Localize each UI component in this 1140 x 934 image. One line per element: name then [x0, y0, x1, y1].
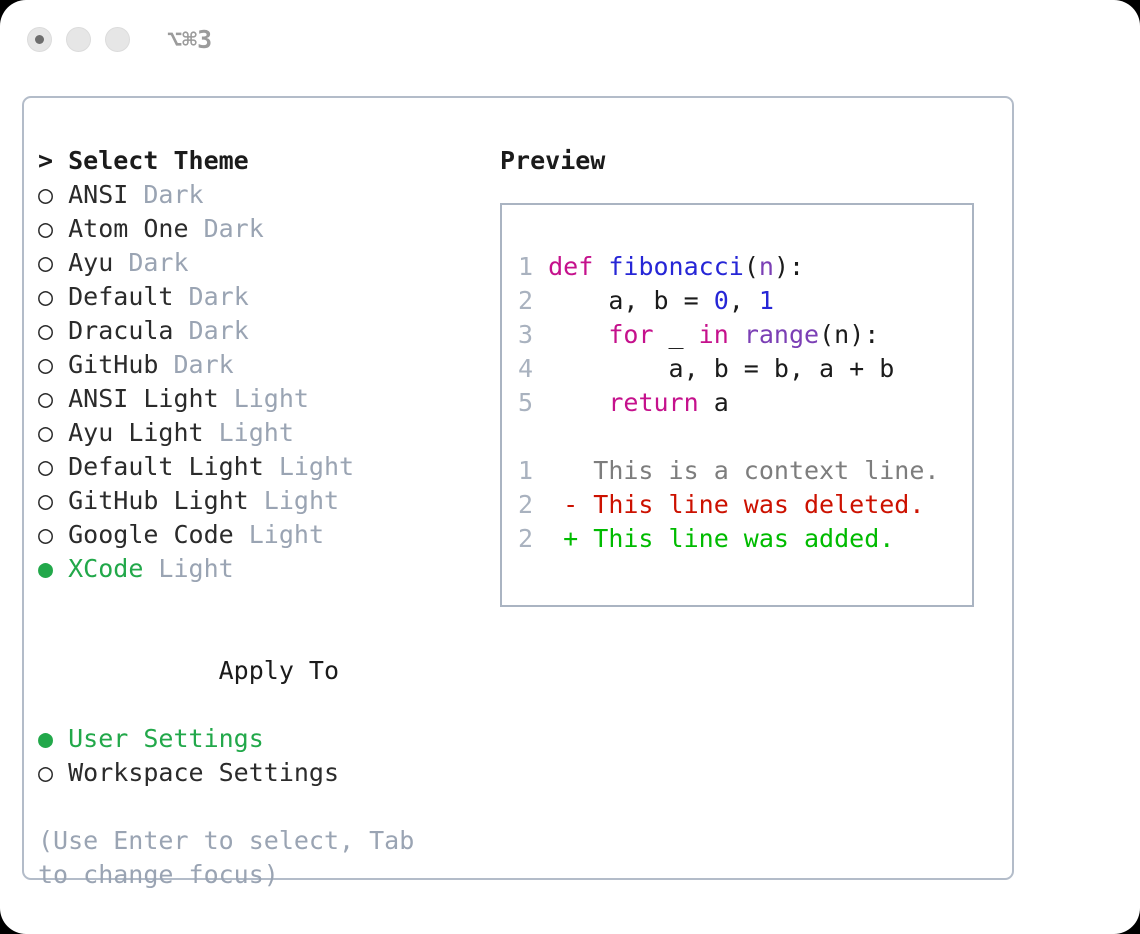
- theme-option-kind: Dark: [189, 214, 264, 243]
- code-token-kw: return: [608, 388, 698, 417]
- code-line: 1 def fibonacci(n):: [518, 250, 972, 284]
- code-token-var: a, b =: [548, 286, 714, 315]
- apply-to-option-label: User Settings: [53, 724, 264, 753]
- code-line-gap: [533, 252, 548, 281]
- traffic-light-dot-icon: [35, 35, 44, 44]
- theme-option-ansi[interactable]: ○ ANSI Dark: [38, 178, 498, 212]
- radio-unselected-icon: ○: [38, 282, 53, 311]
- theme-option-kind: Light: [249, 486, 339, 515]
- traffic-light-second[interactable]: [66, 27, 91, 52]
- theme-option-google-code[interactable]: ○ Google Code Light: [38, 518, 498, 552]
- diff-line: 2 - This line was deleted.: [518, 488, 972, 522]
- theme-option-ayu-light[interactable]: ○ Ayu Light Light: [38, 416, 498, 450]
- theme-option-label: XCode: [53, 554, 143, 583]
- theme-option-kind: Dark: [113, 248, 188, 277]
- radio-unselected-icon: ○: [38, 316, 53, 345]
- code-token-kw: in: [699, 320, 729, 349]
- diff-line-gap: [533, 456, 563, 485]
- diff-line: 1 This is a context line.: [518, 454, 972, 488]
- code-sample: 1 def fibonacci(n):2 a, b = 0, 13 for _ …: [518, 250, 972, 420]
- theme-option-label: Default Light: [53, 452, 264, 481]
- code-token-param: n: [759, 252, 774, 281]
- code-line-number: 5: [518, 388, 533, 417]
- apply-to-list: ● User Settings○ Workspace Settings: [38, 722, 498, 790]
- diff-line-number: 2: [518, 524, 533, 553]
- radio-unselected-icon: ○: [38, 452, 53, 481]
- code-token-num: 0: [714, 286, 729, 315]
- app-window: ⌥⌘3 > Select Theme ○ ANSI Dark○ Atom One…: [0, 0, 1140, 934]
- radio-selected-icon: ●: [38, 724, 53, 753]
- code-token-var: ,: [729, 286, 759, 315]
- apply-to-header: Apply To: [38, 620, 498, 722]
- theme-option-kind: Light: [204, 418, 294, 447]
- radio-unselected-icon: ○: [38, 418, 53, 447]
- main-panel: > Select Theme ○ ANSI Dark○ Atom One Dar…: [22, 96, 1014, 880]
- theme-option-label: ANSI: [53, 180, 128, 209]
- theme-option-label: Ayu: [53, 248, 113, 277]
- radio-unselected-icon: ○: [38, 758, 53, 787]
- radio-unselected-icon: ○: [38, 384, 53, 413]
- keyboard-hint: (Use Enter to select, Tab to change focu…: [38, 824, 446, 892]
- window-controls: [27, 27, 130, 52]
- theme-option-label: Default: [53, 282, 173, 311]
- keyboard-shortcut-label: ⌥⌘3: [167, 27, 212, 52]
- theme-option-ansi-light[interactable]: ○ ANSI Light Light: [38, 382, 498, 416]
- panel-columns: > Select Theme ○ ANSI Dark○ Atom One Dar…: [24, 98, 1012, 878]
- code-line: 2 a, b = 0, 1: [518, 284, 972, 318]
- diff-line-gap: [533, 524, 563, 553]
- radio-unselected-icon: ○: [38, 486, 53, 515]
- code-line: 5 return a: [518, 386, 972, 420]
- diff-marker-del: -: [563, 490, 593, 519]
- code-token-var: _: [654, 320, 699, 349]
- code-line-gap: [533, 388, 548, 417]
- preview-box: 1 def fibonacci(n):2 a, b = 0, 13 for _ …: [500, 203, 974, 607]
- theme-option-label: GitHub: [53, 350, 158, 379]
- theme-option-dracula[interactable]: ○ Dracula Dark: [38, 314, 498, 348]
- theme-option-label: Google Code: [53, 520, 234, 549]
- code-token-builtin: range: [744, 320, 819, 349]
- theme-option-label: Dracula: [53, 316, 173, 345]
- theme-option-kind: Light: [219, 384, 309, 413]
- code-token-fn: fibonacci: [608, 252, 743, 281]
- code-token-var: a: [699, 388, 729, 417]
- code-line-gap: [533, 354, 548, 383]
- theme-option-kind: Dark: [128, 180, 203, 209]
- code-line-number: 3: [518, 320, 533, 349]
- preview-column: Preview 1 def fibonacci(n):2 a, b = 0, 1…: [500, 144, 1000, 607]
- diff-line-gap: [533, 490, 563, 519]
- theme-option-kind: Light: [234, 520, 324, 549]
- apply-to-label: [189, 656, 219, 685]
- code-line: 4 a, b = b, a + b: [518, 352, 972, 386]
- theme-option-github-light[interactable]: ○ GitHub Light Light: [38, 484, 498, 518]
- diff-marker-ctx: [563, 456, 593, 485]
- code-line-gap: [533, 286, 548, 315]
- code-token-var: [548, 320, 608, 349]
- theme-option-label: Ayu Light: [53, 418, 204, 447]
- radio-unselected-icon: ○: [38, 350, 53, 379]
- apply-to-option-user-settings[interactable]: ● User Settings: [38, 722, 498, 756]
- theme-option-github[interactable]: ○ GitHub Dark: [38, 348, 498, 382]
- code-token-kw: for: [608, 320, 653, 349]
- traffic-light-third[interactable]: [105, 27, 130, 52]
- code-diff-separator: [518, 420, 972, 454]
- diff-marker-add: +: [563, 524, 593, 553]
- preview-title: Preview: [500, 144, 1000, 178]
- theme-picker-column: > Select Theme ○ ANSI Dark○ Atom One Dar…: [38, 144, 498, 892]
- title-bar: ⌥⌘3: [0, 0, 1140, 78]
- code-line-number: 2: [518, 286, 533, 315]
- theme-option-kind: Dark: [173, 282, 248, 311]
- apply-to-option-workspace-settings[interactable]: ○ Workspace Settings: [38, 756, 498, 790]
- apply-to-option-label: Workspace Settings: [53, 758, 339, 787]
- theme-option-kind: Dark: [173, 316, 248, 345]
- code-token-punct: ):: [774, 252, 804, 281]
- radio-unselected-icon: ○: [38, 180, 53, 209]
- theme-option-ayu[interactable]: ○ Ayu Dark: [38, 246, 498, 280]
- code-line-number: 1: [518, 252, 533, 281]
- code-token-kw: def: [548, 252, 608, 281]
- radio-unselected-icon: ○: [38, 214, 53, 243]
- theme-option-label: ANSI Light: [53, 384, 219, 413]
- code-line-number: 4: [518, 354, 533, 383]
- diff-line-text: This line was added.: [593, 524, 894, 553]
- code-line: 3 for _ in range(n):: [518, 318, 972, 352]
- theme-option-kind: Light: [264, 452, 354, 481]
- apply-to-title: Apply To: [219, 656, 339, 685]
- code-token-num: 1: [759, 286, 774, 315]
- code-line-gap: [533, 320, 548, 349]
- diff-line-number: 1: [518, 456, 533, 485]
- theme-option-default-light[interactable]: ○ Default Light Light: [38, 450, 498, 484]
- radio-unselected-icon: ○: [38, 520, 53, 549]
- select-theme-header: > Select Theme: [38, 144, 498, 178]
- diff-line: 2 + This line was added.: [518, 522, 972, 556]
- code-token-var: a, b = b, a + b: [548, 354, 894, 383]
- radio-selected-icon: ●: [38, 554, 53, 583]
- theme-option-default[interactable]: ○ Default Dark: [38, 280, 498, 314]
- radio-unselected-icon: ○: [38, 248, 53, 277]
- theme-option-atom-one[interactable]: ○ Atom One Dark: [38, 212, 498, 246]
- code-token-var: [729, 320, 744, 349]
- code-token-var: [548, 388, 608, 417]
- theme-option-kind: Dark: [158, 350, 233, 379]
- theme-option-kind: Light: [143, 554, 233, 583]
- traffic-light-active[interactable]: [27, 27, 52, 52]
- code-token-punct: (n):: [819, 320, 879, 349]
- theme-option-label: Atom One: [53, 214, 188, 243]
- diff-line-number: 2: [518, 490, 533, 519]
- diff-line-text: This line was deleted.: [593, 490, 924, 519]
- diff-line-text: This is a context line.: [593, 456, 939, 485]
- diff-sample: 1 This is a context line.2 - This line w…: [518, 454, 972, 556]
- code-token-punct: (: [744, 252, 759, 281]
- theme-list: ○ ANSI Dark○ Atom One Dark○ Ayu Dark○ De…: [38, 178, 498, 586]
- theme-option-label: GitHub Light: [53, 486, 249, 515]
- theme-option-xcode[interactable]: ● XCode Light: [38, 552, 498, 586]
